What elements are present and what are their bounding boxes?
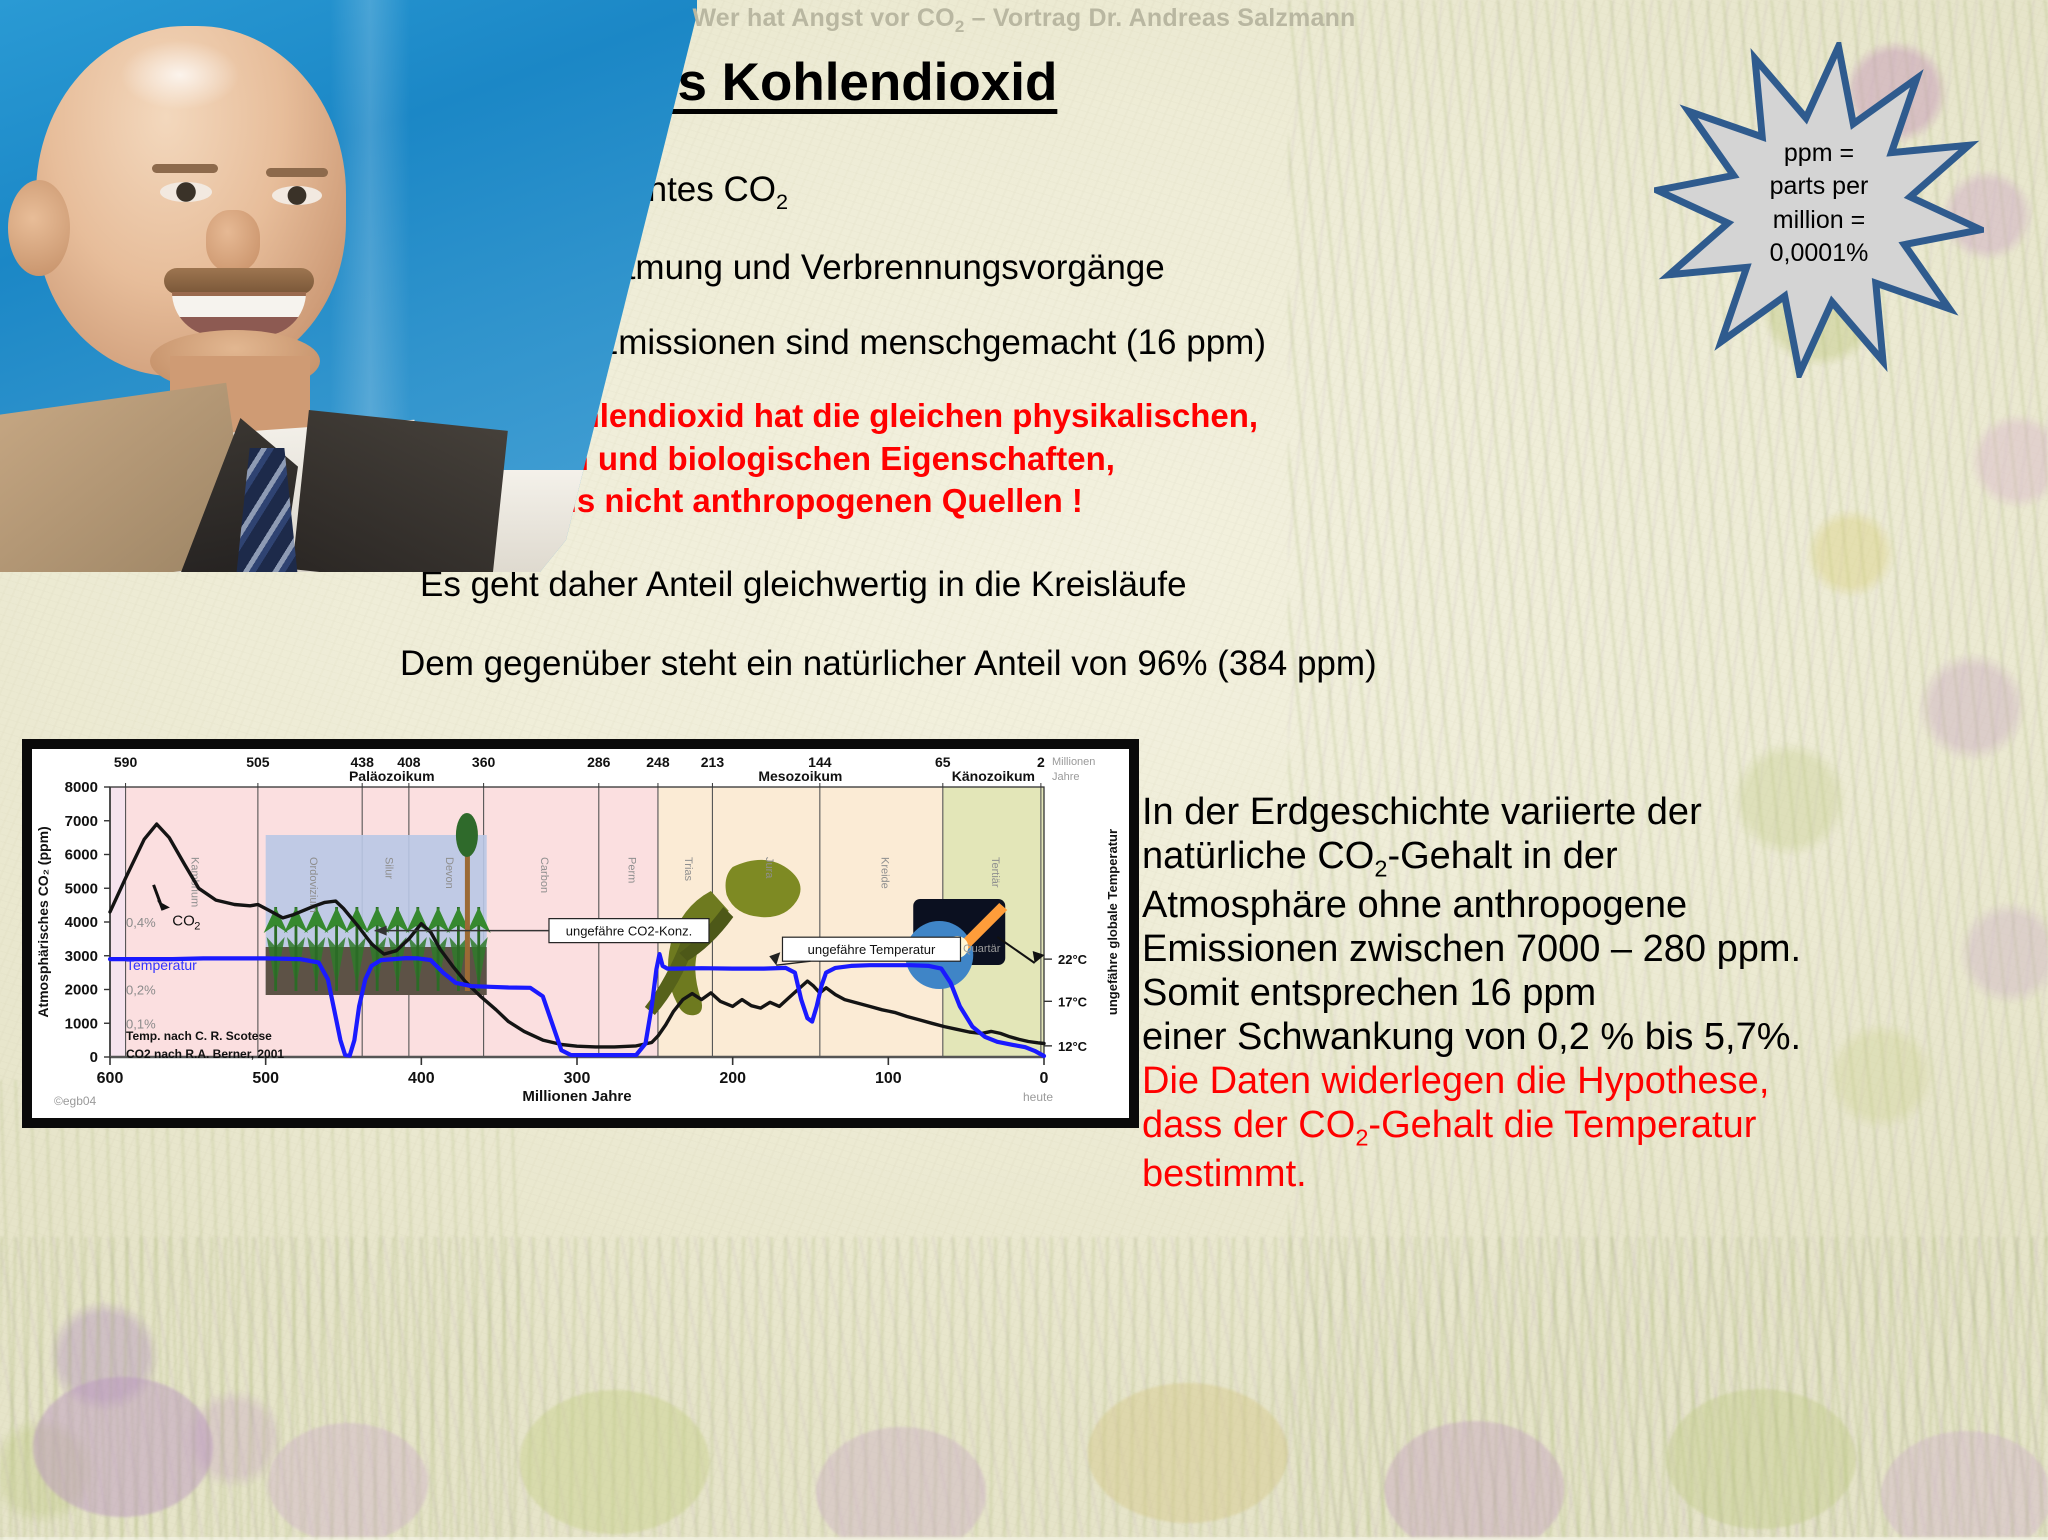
chart-svg: PaläozoikumMesozoikumKänozoikumKambriumO… (32, 749, 1129, 1118)
chart-frame: PaläozoikumMesozoikumKänozoikumKambriumO… (22, 739, 1139, 1128)
photo-moustache (164, 268, 314, 294)
callout-temperatur-label: ungefähre Temperatur (808, 942, 936, 957)
top-tick-label-65: 65 (935, 754, 951, 770)
x-axis-note-heute: heute (1023, 1090, 1053, 1104)
callout-temperatur: ungefähre Temperatur (782, 937, 960, 961)
paragraph-line-6: einer Schwankung von 0,2 % bis 5,7%. (1142, 1015, 2048, 1059)
x-tick-label-500: 500 (252, 1070, 279, 1087)
star-line-4: 0,0001% (1708, 237, 1930, 270)
bullet-natuerlicher-anteil: Dem gegenüber steht ein natürlicher Ante… (400, 644, 1377, 684)
y-tick-label-0: 0 (90, 1049, 98, 1066)
explanatory-paragraph: In der Erdgeschichte variierte dernatürl… (1142, 790, 2048, 1196)
x-tick-label-600: 600 (97, 1070, 124, 1087)
chart-source-line-1: Temp. nach C. R. Scotese (126, 1029, 272, 1043)
y-right-tick-label: 17°C (1058, 994, 1088, 1009)
period-label-silur: Silur (383, 857, 395, 879)
y-tick-label-3000: 3000 (65, 948, 98, 965)
y-axis-title: Atmosphärisches CO₂ (ppm) (35, 826, 51, 1017)
top-tick-label-248: 248 (646, 754, 670, 770)
paragraph-line-3: Atmosphäre ohne anthropogene (1142, 883, 2048, 927)
series-label-co2: CO (172, 912, 195, 929)
top-tick-label-213: 213 (701, 754, 725, 770)
paragraph-line-5: Somit entsprechen 16 ppm (1142, 971, 2048, 1015)
paragraph-red-line-2: dass der CO2-Gehalt die Temperatur (1142, 1103, 2048, 1152)
background-flora-bottom (0, 1237, 2048, 1537)
plants-illustration (264, 813, 491, 995)
percent-label-0,4%: 0,4% (126, 915, 156, 930)
star-line-3: million = (1708, 204, 1930, 237)
y-tick-label-8000: 8000 (65, 779, 98, 796)
period-label-jura: Jura (763, 857, 775, 879)
x-tick-label-300: 300 (564, 1070, 591, 1087)
y-tick-label-4000: 4000 (65, 914, 98, 931)
top-tick-label-144: 144 (808, 754, 832, 770)
photo-jacket-right (292, 410, 508, 572)
y-axis-right-title: ungefähre globale Temperatur (1105, 829, 1120, 1015)
chart-canvas: PaläozoikumMesozoikumKänozoikumKambriumO… (32, 749, 1129, 1118)
y-tick-label-1000: 1000 (65, 1015, 98, 1032)
star-line-1: ppm = (1708, 137, 1930, 170)
y-tick-label-5000: 5000 (65, 880, 98, 897)
y-right-tick-label: 12°C (1058, 1039, 1088, 1054)
bullet-text-post: -Emissionen sind menschgemacht (16 ppm) (583, 323, 1266, 362)
callout-co2-konz-label: ungefähre CO2-Konz. (566, 924, 692, 939)
era-label-paläozoikum: Paläozoikum (349, 768, 435, 784)
period-label-tertiär: Tertiär (989, 857, 1001, 888)
photo-eye-right (272, 186, 322, 205)
x-tick-label-400: 400 (408, 1070, 435, 1087)
x-axis-title: Millionen Jahre (522, 1088, 631, 1105)
bullet-text: Dem gegenüber steht ein natürlicher Ante… (400, 644, 1377, 683)
photo-eyebrow-right (266, 168, 328, 177)
period-label-trias: Trias (682, 857, 694, 882)
chart-source-line-2: CO2 nach R.A. Berner, 2001 (126, 1047, 284, 1061)
percent-label-0,2%: 0,2% (126, 983, 156, 998)
era-band-precambrian (110, 787, 126, 1057)
period-label-quartaer: Quartär (963, 943, 1001, 955)
co2-temperature-chart: PaläozoikumMesozoikumKänozoikumKambriumO… (22, 739, 1139, 1128)
period-label-kreide: Kreide (878, 857, 890, 889)
star-line-2: parts per (1708, 170, 1930, 203)
top-tick-label-505: 505 (246, 754, 270, 770)
series-label-temperatur: Temperatur (126, 957, 197, 973)
y-tick-label-6000: 6000 (65, 847, 98, 864)
x-tick-label-0: 0 (1040, 1070, 1049, 1087)
series-label-co2-subscript: 2 (194, 920, 200, 932)
photo-eye-left (160, 182, 212, 202)
era-label-känozoikum: Känozoikum (952, 768, 1035, 784)
header-title-post: – Vortrag Dr. Andreas Salzmann (964, 4, 1355, 32)
paragraph-line-2: natürliche CO2-Gehalt in der (1142, 834, 2048, 883)
photo-head-highlight (120, 40, 240, 110)
x-tick-label-100: 100 (875, 1070, 902, 1087)
top-axis-unit-line1: Millionen (1052, 756, 1095, 768)
era-label-mesozoikum: Mesozoikum (758, 768, 842, 784)
period-label-carbon: Carbon (538, 857, 550, 893)
photo-ear (8, 180, 70, 276)
y-tick-label-7000: 7000 (65, 813, 98, 830)
y-right-tick-label: 22°C (1058, 952, 1088, 967)
photo-nose (206, 210, 260, 272)
period-label-perm: Perm (625, 857, 637, 883)
top-tick-label-408: 408 (397, 754, 421, 770)
co2-subscript: 2 (1374, 856, 1387, 882)
photo-eyebrow-left (152, 164, 218, 173)
paragraph-red-line-3: bestimmt. (1142, 1152, 2048, 1196)
top-tick-label-286: 286 (587, 754, 611, 770)
top-tick-label-590: 590 (114, 754, 138, 770)
top-tick-label-360: 360 (472, 754, 496, 770)
x-tick-label-200: 200 (719, 1070, 746, 1087)
star-callout-text: ppm = parts per million = 0,0001% (1708, 137, 1930, 270)
top-tick-label-438: 438 (351, 754, 375, 770)
paragraph-line-4: Emissionen zwischen 7000 – 280 ppm. (1142, 927, 2048, 971)
presentation-header: Wer hat Angst vor CO2 – Vortrag Dr. Andr… (0, 4, 2048, 37)
co2-subscript: 2 (1355, 1125, 1368, 1151)
top-tick-label-2: 2 (1037, 754, 1045, 770)
callout-co2-konz: ungefähre CO2-Konz. (549, 919, 709, 943)
chart-copyright: ©egb04 (54, 1094, 97, 1108)
header-title-pre: Wer hat Angst vor CO (692, 4, 954, 32)
top-axis-unit-line2: Jahre (1052, 771, 1080, 783)
bullet-subscript: 2 (776, 189, 788, 214)
paragraph-line-1: In der Erdgeschichte variierte der (1142, 790, 2048, 834)
tall-tree-crown (456, 813, 478, 857)
y-tick-label-2000: 2000 (65, 982, 98, 999)
ppm-star-callout: ppm = parts per million = 0,0001% (1654, 42, 1984, 378)
period-label-devon: Devon (443, 857, 455, 889)
paragraph-red-line-1: Die Daten widerlegen die Hypothese, (1142, 1059, 2048, 1103)
